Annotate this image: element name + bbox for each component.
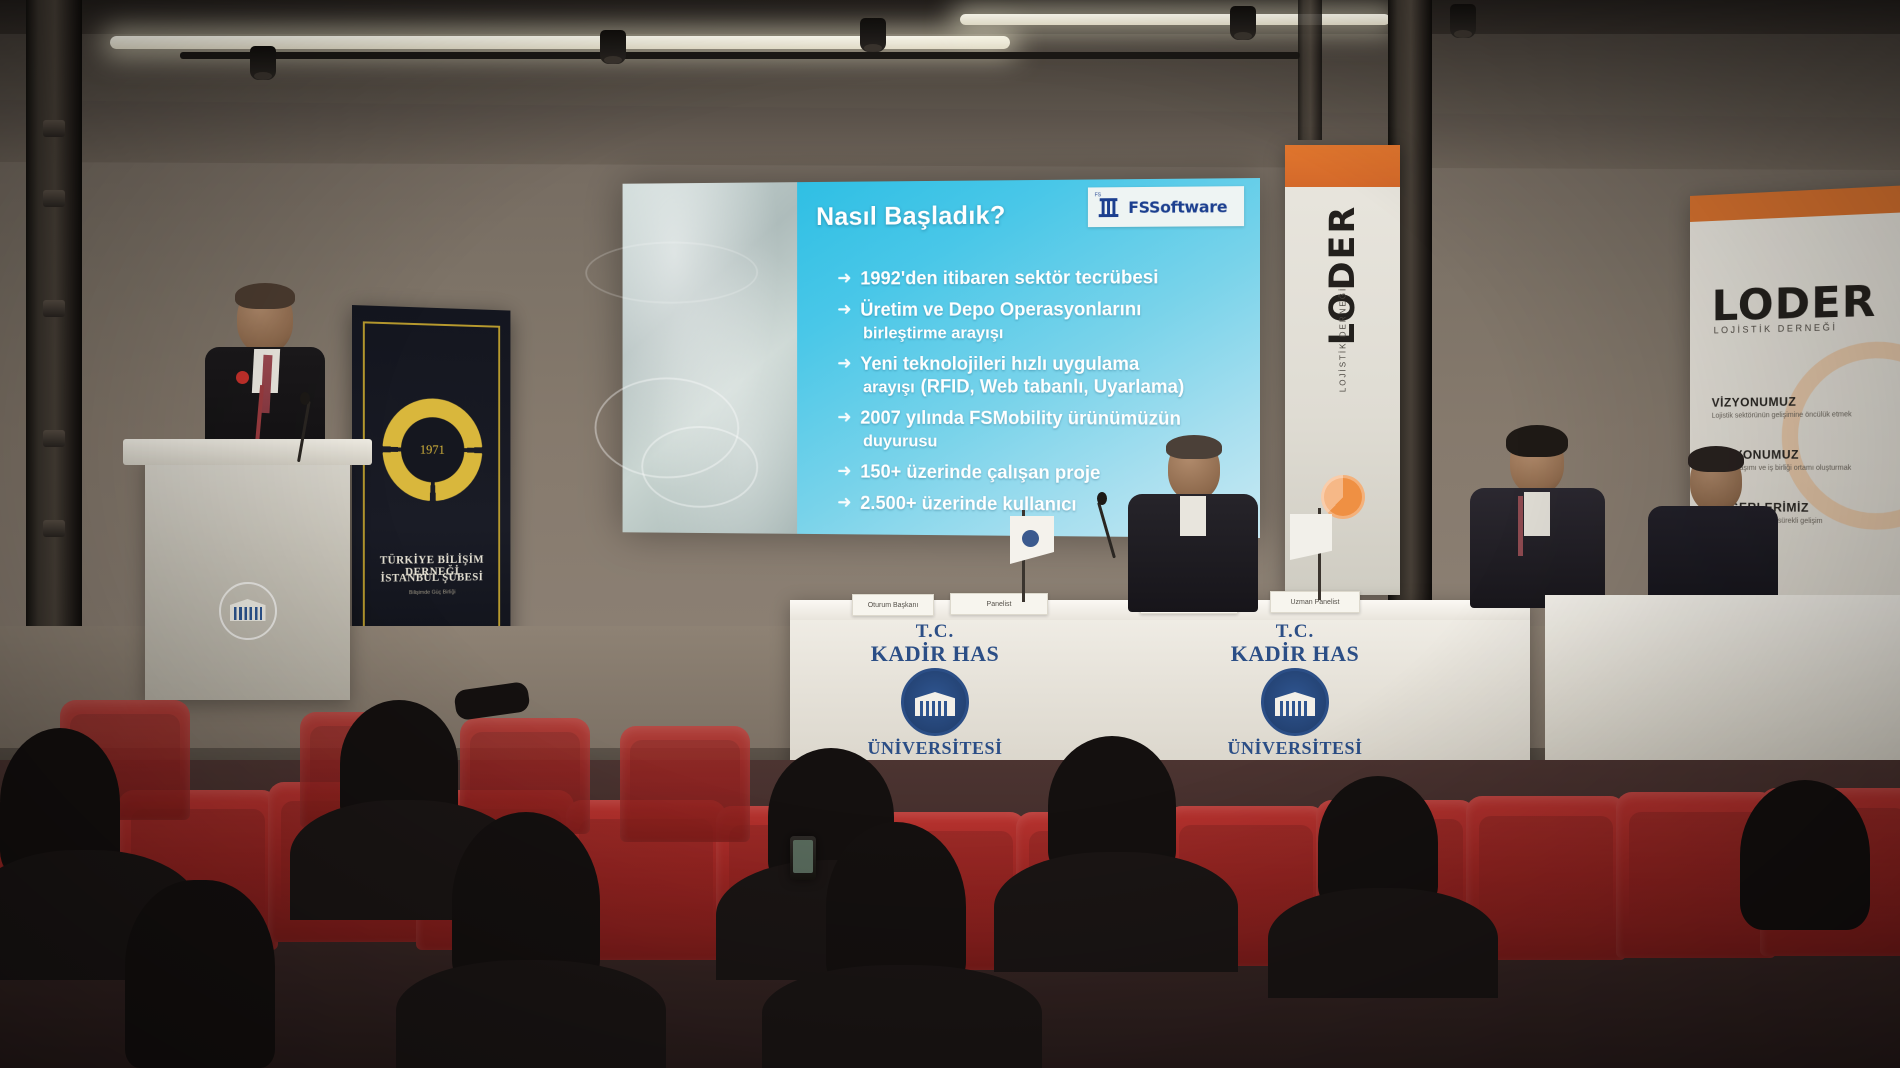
panelist-hair <box>1506 425 1568 457</box>
nameplate: Uzman Panelist <box>1270 591 1360 613</box>
panelist-shirt <box>1524 492 1550 536</box>
tc-line-3: ÜNİVERSİTESİ <box>1200 739 1390 758</box>
bullet-text: 1992'den itibaren sektör tecrübesi <box>860 266 1158 290</box>
spotlight-icon <box>860 18 886 52</box>
microphone-head-icon <box>300 392 310 405</box>
fssoftware-wordmark: FSSoftware <box>1128 197 1227 217</box>
bullet-text: Üretim ve Depo Operasyonlarını <box>860 298 1141 321</box>
tbd-emblem-year: 1971 <box>400 417 463 483</box>
tbd-emblem-icon: 1971 <box>382 398 482 502</box>
nameplate: Panelist <box>950 593 1048 615</box>
bullet-text: 150+ üzerinde çalışan proje <box>860 461 1100 485</box>
smartphone[interactable] <box>790 836 816 880</box>
arrow-icon: ➜ <box>837 299 851 319</box>
fssoftware-logo: FS FSSoftware <box>1088 186 1244 227</box>
bullet-subtext: arayışı <box>863 376 915 399</box>
tc-line-3: ÜNİVERSİTESİ <box>840 739 1030 758</box>
slide-background-image <box>623 182 798 534</box>
arrow-icon: ➜ <box>837 461 851 481</box>
audience-shoulders <box>994 852 1238 972</box>
list-item-continuation: arayışı (RFID, Web tabanlı, Uyarlama) <box>837 376 1250 399</box>
tc-line-1: T.C. <box>1200 622 1390 642</box>
list-item: ➜ 1992'den itibaren sektör tecrübesi <box>837 266 1250 290</box>
ceiling-beam <box>0 0 1900 34</box>
structural-pillar <box>26 0 82 660</box>
tbd-line-2: İSTANBUL ŞUBESİ <box>352 571 510 585</box>
audience-shoulders <box>396 960 666 1068</box>
list-item: ➜ Yeni teknolojileri hızlı uygulama <box>837 353 1250 376</box>
bullet-subtext: birleştirme arayışı <box>863 321 1003 344</box>
kadir-has-seal-icon <box>901 668 969 736</box>
microphone-head-icon <box>1097 492 1107 505</box>
spotlight-icon <box>600 30 626 64</box>
spotlight-icon <box>1450 4 1476 38</box>
nameplate: Oturum Başkanı <box>852 594 934 616</box>
table-banner-left: T.C. KADİR HAS ÜNİVERSİTESİ <box>840 622 1030 758</box>
panelist-shirt <box>1180 496 1206 536</box>
tc-line-2: KADİR HAS <box>1200 642 1390 665</box>
bullet-text: 2.500+ üzerinde kullanıcı <box>860 492 1076 516</box>
panelist-hair <box>1688 446 1744 472</box>
loder-item-heading: VİZYONUMUZ <box>1712 394 1797 409</box>
kadir-has-seal-icon <box>1261 668 1329 736</box>
bullet-subtext: duyurusu <box>863 430 938 453</box>
tc-line-2: KADİR HAS <box>840 642 1030 665</box>
audience-head-silhouette <box>125 880 275 1068</box>
podium-top <box>123 439 372 465</box>
panelist-seated <box>1128 438 1258 608</box>
loder-subtitle: LOJİSTİK DERNEĞİ <box>1338 287 1347 392</box>
lanyard <box>1518 496 1523 556</box>
spotlight-icon <box>1230 6 1256 40</box>
list-item: ➜ 2007 yılında FSMobility ürünümüzün <box>837 407 1250 431</box>
audience-shoulders <box>762 965 1042 1068</box>
speaker-hair <box>235 283 295 309</box>
audience-seat <box>620 726 750 842</box>
loder-subtitle: LOJİSTİK DERNEĞİ <box>1714 322 1838 335</box>
banner-orange-cap <box>1285 145 1400 187</box>
panelist-hair <box>1166 435 1222 459</box>
arrow-icon: ➜ <box>837 353 851 373</box>
panelist-seated <box>1470 430 1605 605</box>
table-banner-right: T.C. KADİR HAS ÜNİVERSİTESİ <box>1200 622 1390 758</box>
podium <box>145 455 350 700</box>
arrow-icon: ➜ <box>837 407 851 427</box>
arrow-icon: ➜ <box>837 492 851 512</box>
list-item-continuation: birleştirme arayışı <box>837 321 1250 344</box>
slide-title: Nasıl Başladık? <box>816 200 1005 232</box>
list-item: ➜ Üretim ve Depo Operasyonlarını <box>837 298 1250 322</box>
audience-shoulders <box>1268 888 1498 998</box>
conference-photo: FS FSSoftware Nasıl Başladık? ➜ 1992'den… <box>0 0 1900 1068</box>
audience-head-silhouette <box>1740 780 1870 930</box>
bullet-text: 2007 yılında FSMobility ürünümüzün <box>860 407 1181 431</box>
tc-line-1: T.C. <box>840 622 1030 642</box>
loder-globe-icon <box>1321 475 1365 519</box>
bullet-note: (RFID, Web tabanlı, Uyarlama) <box>921 376 1185 399</box>
arrow-icon: ➜ <box>837 268 851 288</box>
structural-pillar <box>1298 0 1322 140</box>
lighting-track <box>180 52 1300 59</box>
spotlight-icon <box>250 46 276 80</box>
lapel-pin <box>236 371 249 384</box>
ceiling-light-strip <box>960 14 1390 25</box>
pillar-icon: FS <box>1094 192 1123 222</box>
seal-columns-icon <box>234 607 262 620</box>
logo-tiny-text: FS <box>1095 192 1101 198</box>
bullet-text: Yeni teknolojileri hızlı uygulama <box>860 353 1139 376</box>
kadir-has-seal-icon <box>210 573 286 649</box>
loder-item-body: Lojistik sektörünün gelişimine öncülük e… <box>1712 410 1864 421</box>
